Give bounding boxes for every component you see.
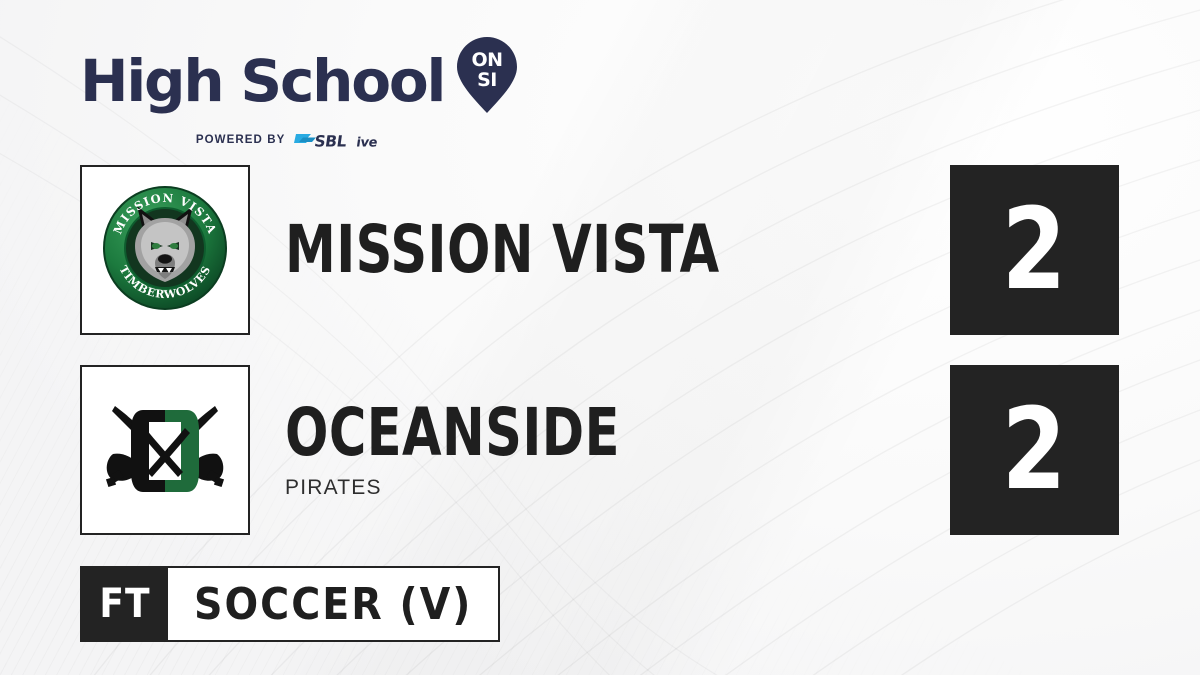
score-box-home: 2 [950, 165, 1119, 335]
wordmark: High School ON SI [80, 36, 518, 125]
team-name: OCEANSIDE [285, 400, 620, 466]
team-mascot: PIRATES [285, 476, 674, 500]
powered-by-row: POWERED BY SBL ive [80, 131, 518, 149]
powered-by-label: POWERED BY [196, 134, 286, 146]
team-info: OCEANSIDE PIRATES [285, 400, 674, 500]
brand-header: High School ON SI POWERED BY SBL ive [80, 36, 518, 149]
wordmark-text: High School [80, 50, 444, 112]
timberwolves-circle-logo-icon: MISSION VISTA TIMBERWOLVES [101, 184, 229, 317]
scoreboard-graphic: High School ON SI POWERED BY SBL ive [0, 0, 1200, 675]
on-si-pin-icon: ON SI [456, 36, 518, 125]
svg-text:SBL: SBL [314, 132, 349, 149]
game-status-bar: FT SOCCER (V) [80, 566, 500, 642]
svg-text:SI: SI [477, 69, 497, 91]
score-box-away: 2 [950, 365, 1119, 535]
pirates-crossed-swords-logo-icon [101, 388, 229, 513]
sport-label: SOCCER (V) [168, 568, 498, 640]
team-info: MISSION VISTA [285, 217, 790, 283]
score-value: 2 [1002, 194, 1067, 306]
team-row-away: OCEANSIDE PIRATES [80, 365, 674, 535]
score-value: 2 [1002, 394, 1067, 506]
status-badge: FT [82, 568, 168, 640]
sblive-logo: SBL ive [294, 131, 402, 150]
svg-text:ON: ON [472, 49, 503, 71]
team-row-home: MISSION VISTA TIMBERWOLVES MISSION VISTA [80, 165, 790, 335]
svg-text:ive: ive [356, 135, 379, 149]
team-logo-tile: MISSION VISTA TIMBERWOLVES [80, 165, 250, 335]
team-logo-tile [80, 365, 250, 535]
team-name: MISSION VISTA [285, 217, 720, 283]
